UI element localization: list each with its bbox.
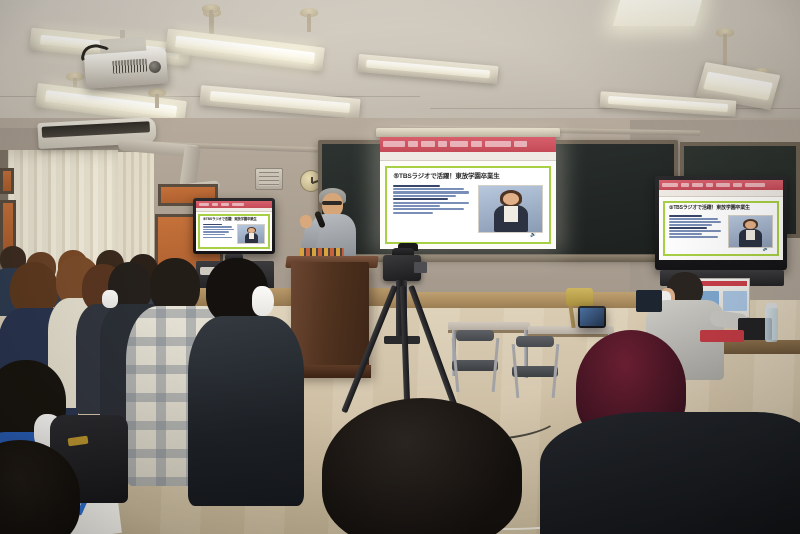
- ac-grill: [42, 121, 150, 138]
- backpack-logo: [68, 436, 89, 447]
- foreground-person-right-body: [540, 412, 800, 534]
- wall-vent: [255, 168, 283, 190]
- presenter-glasses: [322, 201, 342, 205]
- folding-chair-1[interactable]: [452, 330, 498, 392]
- projector-lens: [149, 61, 162, 74]
- slide-footer: 🔊: [393, 233, 542, 237]
- folding-table-1: [448, 322, 530, 330]
- slide-body: [393, 185, 542, 233]
- powerpoint-ribbon: [380, 137, 556, 152]
- slide-right-monitor: ⑤TBSラジオで活躍！東放学園卒業生: [659, 180, 783, 260]
- camera-monitor: [414, 262, 427, 273]
- slide-text-block: [393, 185, 471, 233]
- slide-title: ⑤TBSラジオで活躍！東放学園卒業生: [393, 173, 542, 180]
- powerpoint-toolbar: [380, 152, 556, 161]
- classroom-photo: ⑤TBSラジオで活躍！東放学園卒業生: [0, 0, 800, 534]
- left-monitor-small: [636, 290, 662, 312]
- left-monitor-frame: ⑤TBSラジオで活躍！東放学園卒業生: [193, 198, 275, 254]
- projector-vent: [112, 59, 147, 74]
- left-monitor-screen[interactable]: ⑤TBSラジオで活躍！東放学園卒業生: [196, 201, 272, 251]
- field-monitor[interactable]: [578, 306, 606, 328]
- projection-screen: ⑤TBSラジオで活躍！東放学園卒業生: [380, 137, 556, 249]
- slide-canvas: ⑤TBSラジオで活躍！東放学園卒業生: [385, 166, 550, 244]
- bulletin-board-far: [0, 168, 14, 194]
- right-monitor-frame: ⑤TBSラジオで活躍！東放学園卒業生: [655, 176, 787, 270]
- wooden-stool: [566, 288, 593, 306]
- desk-equipment: [700, 330, 744, 342]
- slide-photo: [478, 185, 543, 233]
- slide-left-monitor: ⑤TBSラジオで活躍！東放学園卒業生: [196, 201, 272, 251]
- slide-projected: ⑤TBSラジオで活躍！東放学園卒業生: [380, 137, 556, 249]
- face-mask: [252, 286, 274, 316]
- slide-title-right: ⑤TBSラジオで活躍！東放学園卒業生: [669, 206, 773, 212]
- skylight: [613, 0, 704, 26]
- right-monitor-screen[interactable]: ⑤TBSラジオで活躍！東放学園卒業生: [659, 180, 783, 260]
- screen-housing: [376, 128, 560, 137]
- folding-chair-2[interactable]: [512, 336, 558, 398]
- water-bottle: [765, 308, 778, 342]
- slide-title-left: ⑤TBSラジオで活躍！東放学園卒業生: [203, 218, 265, 222]
